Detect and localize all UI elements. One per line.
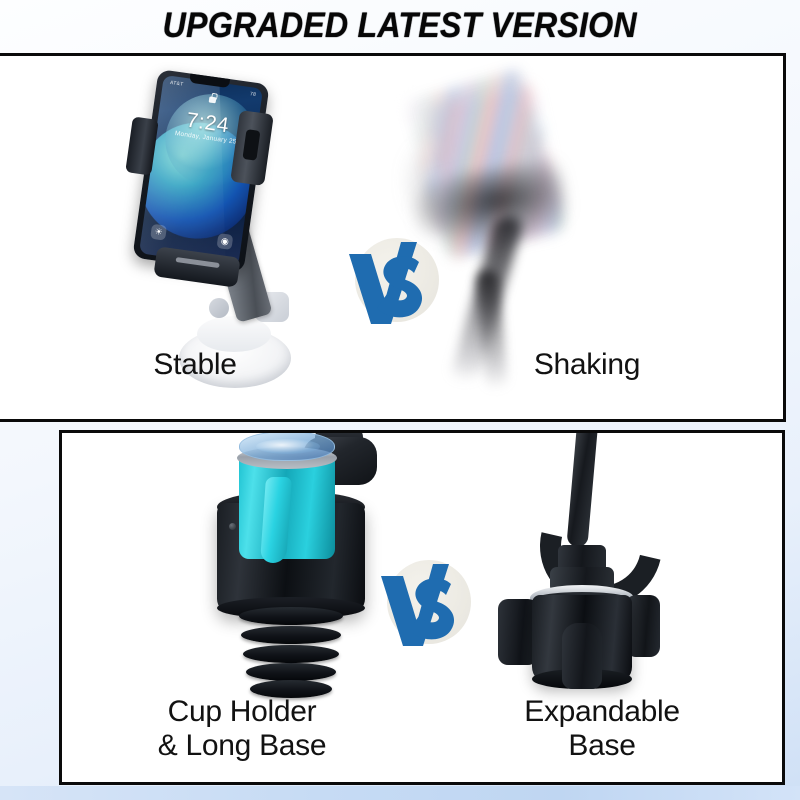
caption-expandable-base: Expandable Base bbox=[422, 695, 782, 763]
clamp-foot-slot bbox=[175, 257, 219, 268]
gooseneck-phone-mount-blurred-image bbox=[401, 74, 651, 394]
infographic-canvas: UPGRADED LATEST VERSION AT&T 78 bbox=[0, 0, 800, 800]
base-right-cell: Expandable Base bbox=[422, 433, 782, 782]
comparison-panel-base: Cup Holder & Long Base bbox=[59, 430, 785, 785]
page-title: UPGRADED LATEST VERSION bbox=[163, 6, 637, 46]
base-ridge bbox=[241, 626, 341, 644]
caption-cup-holder-long-base: Cup Holder & Long Base bbox=[62, 695, 422, 763]
pivot-joint bbox=[209, 298, 229, 318]
base-ridge bbox=[246, 663, 336, 681]
tumbler-lid bbox=[239, 431, 335, 461]
base-ridge bbox=[239, 607, 343, 625]
base-front-tab bbox=[562, 623, 602, 689]
comparison-panel-stability: AT&T 78 7:24 Monday, January 25 ☀ ◉ bbox=[0, 53, 786, 422]
caption-shaking: Shaking bbox=[391, 348, 783, 382]
bottom-gradient-strip bbox=[0, 786, 800, 800]
screen-glare bbox=[139, 75, 227, 267]
caption-stable: Stable bbox=[0, 348, 391, 382]
title-banner: UPGRADED LATEST VERSION bbox=[0, 0, 800, 52]
expandable-base-mount-image bbox=[484, 430, 714, 687]
stability-right-cell: Shaking bbox=[391, 56, 783, 419]
battery-label: 78 bbox=[250, 91, 257, 98]
expandable-long-base bbox=[239, 607, 343, 703]
base-left-cell: Cup Holder & Long Base bbox=[62, 433, 422, 782]
base-ridge bbox=[243, 645, 339, 663]
holder-screw-left bbox=[229, 523, 236, 530]
stability-left-cell: AT&T 78 7:24 Monday, January 25 ☀ ◉ bbox=[0, 56, 391, 419]
